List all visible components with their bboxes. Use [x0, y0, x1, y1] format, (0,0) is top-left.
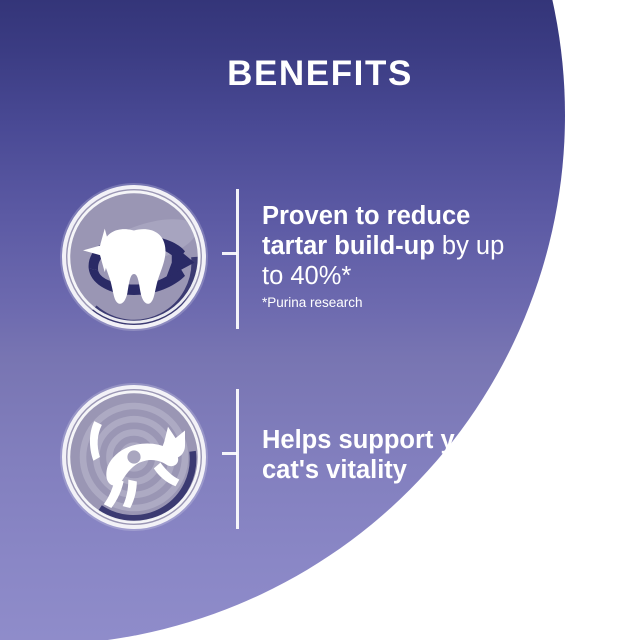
tooth-tartar-icon	[66, 189, 202, 325]
benefit-footnote: *Purina research	[262, 295, 532, 311]
connector-tick	[222, 452, 237, 455]
benefit-icon-tooth	[62, 185, 206, 329]
icon-ring	[62, 385, 206, 529]
benefit-headline: Helps support your cat's vitality	[262, 425, 532, 485]
connector-vertical-line	[236, 189, 239, 329]
leaping-cat-vitality-icon	[66, 389, 202, 525]
page-title: BENEFITS	[0, 54, 640, 94]
icon-ring	[62, 185, 206, 329]
benefit-headline-bold: Helps support your cat's vitality	[262, 426, 496, 484]
benefit-copy: Helps support your cat's vitality	[262, 425, 532, 485]
benefit-connector	[230, 389, 260, 529]
benefit-icon-cat	[62, 385, 206, 529]
connector-vertical-line	[236, 389, 239, 529]
benefit-copy: Proven to reduce tartar build-up by up t…	[262, 201, 532, 311]
benefit-headline: Proven to reduce tartar build-up by up t…	[262, 201, 532, 291]
connector-tick	[222, 252, 237, 255]
benefit-connector	[230, 189, 260, 329]
benefits-banner: BENEFITS	[0, 0, 640, 640]
